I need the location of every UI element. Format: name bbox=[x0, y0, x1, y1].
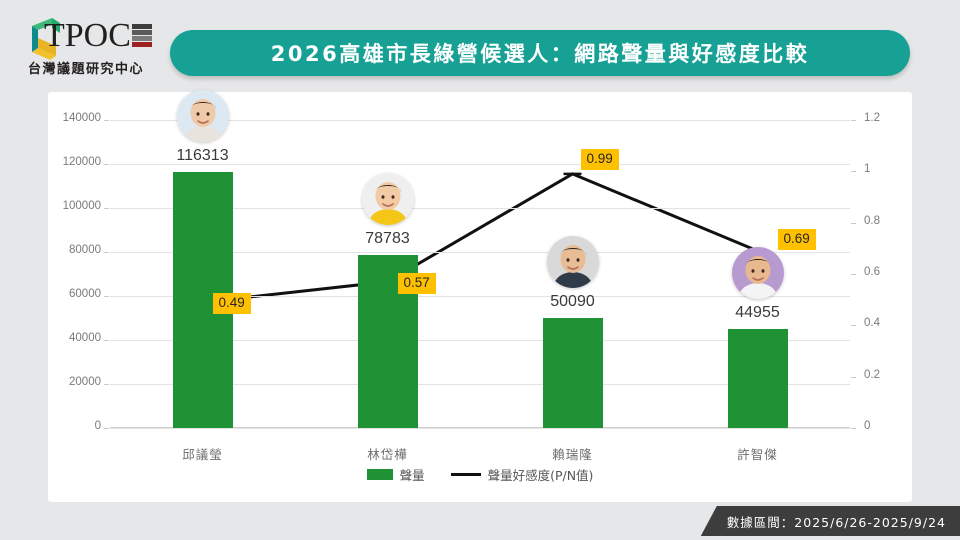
slide-root: TPOC 台灣議題研究中心 2026高雄市長綠營候選人：網路聲量與好感度比較 0… bbox=[0, 0, 960, 540]
y-axis-right-tickmark bbox=[851, 325, 856, 326]
y-axis-right-tick-label: 0.8 bbox=[864, 215, 880, 227]
legend-item-volume[interactable]: 聲量 bbox=[367, 465, 425, 484]
x-axis-category-label: 許智傑 bbox=[688, 444, 828, 463]
avatar-xu-zhijie bbox=[732, 247, 784, 299]
y-axis-right-tick-label: 0 bbox=[864, 420, 870, 432]
legend-line-swatch-icon bbox=[451, 473, 481, 476]
bar-value-label: 78783 bbox=[328, 230, 448, 248]
tpoc-stripes-icon bbox=[132, 24, 152, 52]
y-axis-left-tickmark bbox=[104, 208, 109, 209]
x-axis-category-label: 賴瑞隆 bbox=[503, 444, 643, 463]
bar-value-label: 50090 bbox=[513, 293, 633, 311]
y-axis-left-tickmark bbox=[104, 340, 109, 341]
y-axis-right-tickmark bbox=[851, 171, 856, 172]
legend-label-sentiment: 聲量好感度(P/N值) bbox=[488, 465, 594, 484]
tpoc-logo: TPOC 台灣議題研究中心 bbox=[14, 14, 174, 80]
sentiment-value-label: 0.99 bbox=[581, 149, 619, 170]
y-axis-right-tickmark bbox=[851, 274, 856, 275]
y-axis-left-tick-label: 20000 bbox=[69, 376, 101, 388]
y-axis-left-tickmark bbox=[104, 384, 109, 385]
sentiment-value-label: 0.49 bbox=[213, 293, 251, 314]
y-axis-left-tick-label: 140000 bbox=[63, 112, 101, 124]
avatar-lin-daihua bbox=[362, 173, 414, 225]
bar-value-label: 116313 bbox=[143, 147, 263, 165]
chart-plot-area: 0200004000060000800001000001200001400000… bbox=[110, 120, 850, 428]
y-axis-left-tick-label: 0 bbox=[95, 420, 101, 432]
legend-label-volume: 聲量 bbox=[400, 465, 425, 484]
tpoc-letters: TPOC bbox=[44, 18, 131, 54]
y-axis-left-tickmark bbox=[104, 164, 109, 165]
avatar-qiu-yiying bbox=[177, 90, 229, 142]
legend-bar-swatch-icon bbox=[367, 469, 393, 480]
page-title: 2026高雄市長綠營候選人：網路聲量與好感度比較 bbox=[170, 30, 910, 76]
x-axis-category-label: 邱議瑩 bbox=[133, 444, 273, 463]
y-axis-right-tickmark bbox=[851, 120, 856, 121]
data-range-text: 數據區間：2025/6/26-2025/9/24 bbox=[727, 512, 946, 531]
legend-item-sentiment[interactable]: 聲量好感度(P/N值) bbox=[451, 465, 594, 484]
y-axis-left-tickmark bbox=[104, 252, 109, 253]
chart-legend: 聲量 聲量好感度(P/N值) bbox=[48, 465, 912, 484]
data-range-footer: 數據區間：2025/6/26-2025/9/24 bbox=[701, 506, 960, 536]
tpoc-subtitle: 台灣議題研究中心 bbox=[28, 58, 144, 77]
avatar-lai-ruilong bbox=[547, 236, 599, 288]
gridline bbox=[110, 428, 850, 429]
x-axis-category-label: 林岱樺 bbox=[318, 444, 458, 463]
page-title-text: 2026高雄市長綠營候選人：網路聲量與好感度比較 bbox=[271, 38, 809, 68]
y-axis-left-tick-label: 80000 bbox=[69, 244, 101, 256]
bar-3[interactable] bbox=[543, 318, 603, 428]
y-axis-left-tick-label: 40000 bbox=[69, 332, 101, 344]
y-axis-right-tick-label: 1 bbox=[864, 163, 870, 175]
y-axis-right-tick-label: 0.6 bbox=[864, 266, 880, 278]
y-axis-left-tickmark bbox=[104, 428, 109, 429]
y-axis-right-tickmark bbox=[851, 428, 856, 429]
y-axis-left-tick-label: 100000 bbox=[63, 200, 101, 212]
sentiment-line-path bbox=[203, 174, 758, 302]
tpoc-wordmark: TPOC bbox=[44, 18, 152, 54]
bar-value-label: 44955 bbox=[698, 304, 818, 322]
y-axis-left-tickmark bbox=[104, 296, 109, 297]
chart-card: 0200004000060000800001000001200001400000… bbox=[48, 92, 912, 502]
y-axis-right-tickmark bbox=[851, 223, 856, 224]
y-axis-right-tickmark bbox=[851, 377, 856, 378]
y-axis-left-tick-label: 120000 bbox=[63, 156, 101, 168]
y-axis-right-tick-label: 1.2 bbox=[864, 112, 880, 124]
bar-4[interactable] bbox=[728, 329, 788, 428]
sentiment-value-label: 0.69 bbox=[778, 229, 816, 250]
y-axis-right-tick-label: 0.4 bbox=[864, 317, 880, 329]
y-axis-left-tick-label: 60000 bbox=[69, 288, 101, 300]
y-axis-left-tickmark bbox=[104, 120, 109, 121]
sentiment-value-label: 0.57 bbox=[398, 273, 436, 294]
y-axis-right-tick-label: 0.2 bbox=[864, 369, 880, 381]
